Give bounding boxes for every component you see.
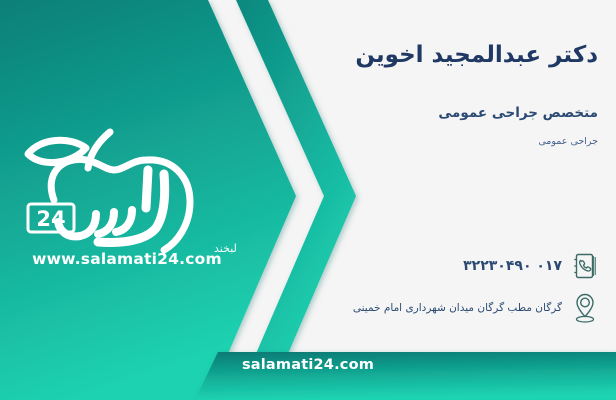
footer-website-url[interactable]: salamati24.com: [0, 357, 616, 373]
logo-website-url[interactable]: www.salamati24.com: [14, 250, 240, 268]
doctor-subspecialty: جراحی عمومی: [198, 136, 598, 147]
badge-24: 24: [28, 204, 74, 232]
phone-number-text: ۰۱۷ ۳۲۲۳۰۴۹۰: [463, 258, 568, 274]
doctor-specialty: متخصص جراحی عمومی: [198, 105, 598, 121]
leaf-icon: [28, 140, 86, 162]
contact-row-address[interactable]: گرگان مطب گرگان میدان شهرداری امام خمینی: [353, 290, 602, 326]
contact-row-phone[interactable]: ۰۱۷ ۳۲۲۳۰۴۹۰: [463, 248, 602, 284]
phone-book-icon: [568, 248, 602, 284]
address-text: گرگان مطب گرگان میدان شهرداری امام خمینی: [353, 302, 568, 314]
map-pin-icon: [568, 290, 602, 326]
business-card: 24 براحتی یک لبخند www.salamati24.com دک…: [0, 0, 616, 400]
svg-text:24: 24: [36, 207, 65, 231]
page-title: دکتر عبدالمجید اخوین: [198, 42, 598, 68]
